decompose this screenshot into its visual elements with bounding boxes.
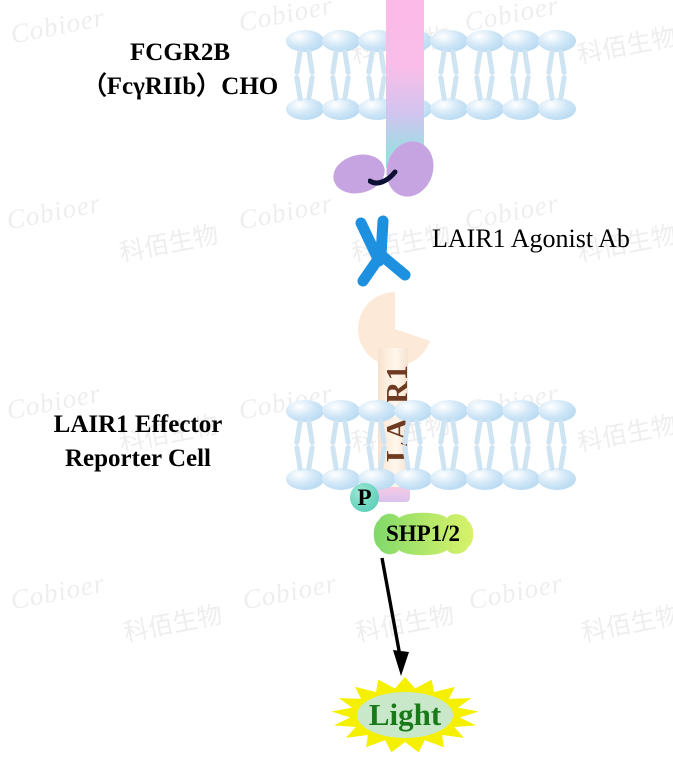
lipid-head bbox=[466, 98, 504, 120]
phospholipid-upper-dn-5 bbox=[466, 42, 504, 120]
lipid-tail bbox=[414, 445, 423, 471]
lipid-tail bbox=[330, 445, 339, 471]
lipid-head bbox=[502, 468, 540, 490]
lipid-tail bbox=[546, 445, 555, 471]
lipid-tail bbox=[510, 75, 519, 101]
lipid-tail bbox=[450, 445, 459, 471]
lipid-tail bbox=[438, 75, 447, 101]
phospholipid-upper-dn-7 bbox=[538, 42, 576, 120]
lipid-tail bbox=[342, 75, 351, 101]
lipid-head bbox=[430, 468, 468, 490]
lipid-tail bbox=[366, 75, 375, 101]
watermark-english-5: Cobioer bbox=[4, 188, 104, 237]
phospholipid-upper-dn-1 bbox=[322, 42, 360, 120]
phosphorylation-marker: P bbox=[350, 483, 379, 512]
lipid-tail bbox=[486, 445, 495, 471]
upper-cell-membrane bbox=[286, 30, 574, 120]
lair1-agonist-antibody-icon bbox=[331, 207, 435, 289]
lipid-head bbox=[394, 468, 432, 490]
phospholipid-lower-dn-6 bbox=[502, 412, 540, 490]
phospholipid-upper-dn-6 bbox=[502, 42, 540, 120]
phospholipid-lower-dn-4 bbox=[430, 412, 468, 490]
lipid-head bbox=[286, 468, 324, 490]
lipid-tail bbox=[294, 445, 303, 471]
lipid-tail bbox=[510, 445, 519, 471]
effector-title-line1: LAIR1 Effector bbox=[18, 408, 258, 442]
lipid-tail bbox=[486, 75, 495, 101]
antibody-label: LAIR1 Agonist Ab bbox=[432, 224, 630, 254]
lipid-tail bbox=[366, 445, 375, 471]
fcgr2b-title-line2: （FcγRIIb）CHO bbox=[60, 70, 300, 104]
lipid-tail bbox=[558, 75, 567, 101]
watermark-chinese-4: 科佰生物 bbox=[574, 17, 673, 71]
fcgr2b-title-line1: FCGR2B bbox=[60, 36, 300, 70]
lipid-head bbox=[322, 98, 360, 120]
watermark-chinese-16: 科佰生物 bbox=[574, 405, 673, 459]
watermark-english-19: Cobioer bbox=[240, 568, 340, 617]
lipid-head bbox=[538, 98, 576, 120]
fcgr2b-hinge-link bbox=[368, 168, 398, 186]
lipid-tail bbox=[558, 445, 567, 471]
effector-cell-title: LAIR1 Effector Reporter Cell bbox=[18, 408, 258, 476]
lipid-tail bbox=[306, 445, 315, 471]
phospho-label: P bbox=[357, 486, 371, 509]
lipid-head bbox=[538, 468, 576, 490]
diagram-canvas: CobioerCobioer科佰生物Cobioer科佰生物Cobioer科佰生物… bbox=[0, 0, 673, 757]
lipid-tail bbox=[522, 445, 531, 471]
phospholipid-upper-dn-4 bbox=[430, 42, 468, 120]
watermark-english-21: Cobioer bbox=[466, 568, 566, 617]
phospholipid-lower-dn-0 bbox=[286, 412, 324, 490]
lipid-tail bbox=[342, 445, 351, 471]
watermark-chinese-18: 科佰生物 bbox=[120, 595, 225, 649]
phospholipid-lower-dn-1 bbox=[322, 412, 360, 490]
shp-phosphatase-label: SHP1/2 bbox=[369, 512, 477, 556]
lipid-tail bbox=[522, 75, 531, 101]
watermark-english-17: Cobioer bbox=[8, 568, 108, 617]
lower-cell-membrane bbox=[286, 400, 574, 490]
lipid-tail bbox=[450, 75, 459, 101]
watermark-chinese-6: 科佰生物 bbox=[116, 215, 221, 269]
watermark-english-7: Cobioer bbox=[236, 188, 336, 237]
lipid-tail bbox=[306, 75, 315, 101]
watermark-chinese-22: 科佰生物 bbox=[578, 595, 673, 649]
effector-title-line2: Reporter Cell bbox=[18, 442, 258, 476]
lipid-tail bbox=[378, 445, 387, 471]
lipid-tail bbox=[546, 75, 555, 101]
lipid-tail bbox=[474, 75, 483, 101]
lipid-tail bbox=[402, 445, 411, 471]
phospholipid-lower-dn-2 bbox=[358, 412, 396, 490]
fcgr2b-cell-title: FCGR2B （FcγRIIb）CHO bbox=[60, 36, 300, 104]
lipid-tail bbox=[330, 75, 339, 101]
lipid-head bbox=[466, 468, 504, 490]
phospholipid-lower-dn-5 bbox=[466, 412, 504, 490]
lipid-head bbox=[430, 98, 468, 120]
lipid-head bbox=[502, 98, 540, 120]
signal-arrow bbox=[368, 556, 424, 678]
phospholipid-lower-dn-7 bbox=[538, 412, 576, 490]
lipid-tail bbox=[438, 445, 447, 471]
phospholipid-lower-dn-3 bbox=[394, 412, 432, 490]
light-output-label: Light bbox=[330, 676, 480, 754]
lipid-tail bbox=[474, 445, 483, 471]
